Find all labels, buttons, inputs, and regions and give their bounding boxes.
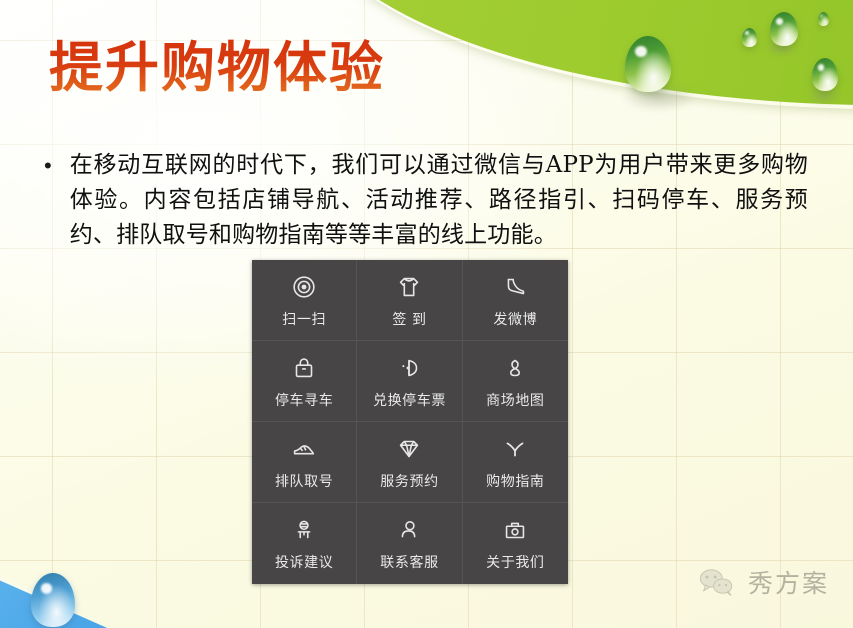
app-label: 商场地图 <box>486 390 544 410</box>
app-cell-weibo[interactable]: 发微博 <box>463 260 568 341</box>
app-label: 投诉建议 <box>275 552 333 572</box>
green-drop-lower <box>818 12 829 26</box>
app-label: 兑换停车票 <box>373 390 446 410</box>
app-label: 停车寻车 <box>275 390 333 410</box>
page-title: 提升购物体验 <box>49 39 385 96</box>
app-label: 发微博 <box>493 309 537 329</box>
app-label: 关于我们 <box>486 552 544 572</box>
green-drop-mid <box>770 12 798 46</box>
person-bust-icon <box>394 515 424 545</box>
diamond-icon <box>394 434 424 464</box>
body-paragraph: 在移动互联网的时代下，我们可以通过微信与APP为用户带来更多购物体验。内容包括店… <box>70 148 808 253</box>
green-drop-small <box>812 58 838 91</box>
body-bullet-block: • 在移动互联网的时代下，我们可以通过微信与APP为用户带来更多购物体验。内容包… <box>44 148 808 253</box>
app-cell-service-booking[interactable]: 服务预约 <box>357 422 462 503</box>
app-cell-customer-service[interactable]: 联系客服 <box>357 503 462 584</box>
green-drop-tiny <box>742 28 757 47</box>
app-label: 购物指南 <box>486 471 544 491</box>
scan-target-icon <box>289 272 319 302</box>
app-label: 联系客服 <box>380 552 438 572</box>
app-cell-parking-ticket[interactable]: 兑换停车票 <box>357 341 462 422</box>
person-chair-icon <box>289 515 319 545</box>
green-drop-large <box>625 36 671 92</box>
sneaker-icon <box>289 434 319 464</box>
app-label: 排队取号 <box>275 471 333 491</box>
watermark-text: 秀方案 <box>748 564 829 600</box>
figure-eight-map-icon <box>500 353 530 383</box>
app-cell-checkin[interactable]: 签 到 <box>357 260 462 341</box>
high-heel-icon <box>500 272 530 302</box>
bullet-marker: • <box>44 148 52 253</box>
parking-ticket-icon <box>394 353 424 383</box>
slide-canvas: 提升购物体验 • 在移动互联网的时代下，我们可以通过微信与APP为用户带来更多购… <box>0 0 853 628</box>
blue-drop-corner <box>31 573 75 627</box>
camera-icon <box>500 515 530 545</box>
app-label: 扫一扫 <box>282 309 326 329</box>
app-cell-mall-map[interactable]: 商场地图 <box>463 341 568 422</box>
app-cell-about-us[interactable]: 关于我们 <box>463 503 568 584</box>
app-cell-shopping-guide[interactable]: 购物指南 <box>463 422 568 503</box>
app-label: 签 到 <box>392 309 426 329</box>
app-cell-queue-number[interactable]: 排队取号 <box>252 422 357 503</box>
wechat-bubbles-icon <box>696 567 738 597</box>
app-cell-find-car[interactable]: 停车寻车 <box>252 341 357 422</box>
handbag-icon <box>289 353 319 383</box>
app-feature-grid: 扫一扫 签 到 发微博 <box>252 260 568 584</box>
tshirt-icon <box>394 272 424 302</box>
app-cell-scan[interactable]: 扫一扫 <box>252 260 357 341</box>
app-label: 服务预约 <box>380 471 438 491</box>
branch-fork-icon <box>500 434 530 464</box>
watermark: 秀方案 <box>696 564 829 600</box>
app-cell-complaint[interactable]: 投诉建议 <box>252 503 357 584</box>
